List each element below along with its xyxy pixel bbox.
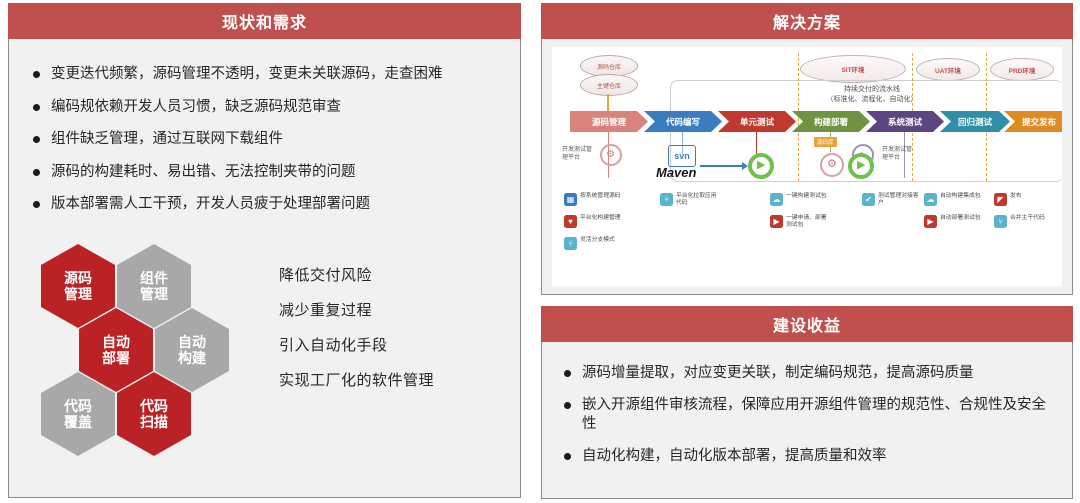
benefit-bullet-list: 源码增量提取，对应变更关联，制定编码规范，提高源码质量 嵌入开源组件审核流程，保… bbox=[542, 342, 1072, 466]
feature-item: ▦ 按系统管理源码 bbox=[564, 193, 621, 206]
panel-status-body: 变更迭代频繁，源码管理不透明，变更未关联源码，走查困难 编码规依赖开发人员习惯，… bbox=[8, 39, 521, 498]
stage-source-management[interactable]: 源码管理 bbox=[570, 111, 648, 132]
env-ellipse-sit: SIT环境 bbox=[800, 55, 906, 83]
hex-label-line2: 部署 bbox=[102, 350, 130, 366]
feature-label: 按系统管理源码 bbox=[580, 193, 621, 200]
hex-label-line2: 扫描 bbox=[140, 414, 168, 430]
feature-item: ◤ 发布 bbox=[994, 193, 1022, 206]
list-item: 版本部署需人工干预，开发人员疲于处理部署问题 bbox=[31, 195, 520, 215]
grid-icon: ▦ bbox=[564, 193, 577, 206]
feature-item: ▶ 一键申请、部署测试包 bbox=[770, 215, 832, 229]
hex-label-line1: 组件 bbox=[140, 270, 168, 286]
list-item: 编码规依赖开发人员习惯，缺乏源码规范审查 bbox=[31, 98, 520, 118]
status-bullet-list: 变更迭代频繁，源码管理不透明，变更未关联源码，走查困难 编码规依赖开发人员习惯，… bbox=[9, 39, 520, 215]
feature-label: 灵活分支模式 bbox=[580, 237, 615, 244]
hex-label-line2: 覆盖 bbox=[64, 414, 92, 430]
feature-item: ✔ 测试管理对接客户 bbox=[862, 193, 924, 207]
branch-icon: ⑂ bbox=[564, 237, 577, 250]
feature-label: 发布 bbox=[1010, 193, 1022, 200]
gear-glyph-left: ⚙ bbox=[606, 150, 615, 160]
play-icon-build: ▶ bbox=[857, 160, 865, 171]
panel-solution-title: 解决方案 bbox=[541, 3, 1073, 39]
hex-label-line1: 代码 bbox=[64, 398, 92, 414]
feature-label: 一键构建测试包 bbox=[786, 193, 827, 200]
panel-benefit-body: 源码增量提取，对应变更关联，制定编码规范，提高源码质量 嵌入开源组件审核流程，保… bbox=[541, 342, 1073, 499]
check-icon: ✔ bbox=[862, 193, 875, 206]
hex-label-line1: 自动 bbox=[178, 334, 206, 350]
feature-label: 一键申请、部署测试包 bbox=[786, 215, 832, 229]
hex-label-line1: 代码 bbox=[140, 398, 168, 414]
list-item: 源码的构建耗时、易出错、无法控制夹带的问题 bbox=[31, 163, 520, 183]
env-ellipse-prd: PRD环境 bbox=[990, 58, 1054, 81]
hex-label-line2: 构建 bbox=[178, 350, 206, 366]
stage-code-writing[interactable]: 代码编写 bbox=[644, 111, 722, 132]
feature-label: 测试管理对接客户 bbox=[878, 193, 924, 207]
panel-solution: 解决方案 源码仓库 主键仓库 SIT环境 UAT环境 PRD环境 持续交付的流水… bbox=[541, 3, 1073, 296]
feature-item: ⑂ 灵活分支模式 bbox=[564, 237, 615, 250]
list-item: 嵌入开源组件审核流程，保障应用开源组件管理的规范性、合规性及安全性 bbox=[562, 396, 1050, 435]
panel-benefit-title: 建设收益 bbox=[541, 306, 1073, 342]
benefit-text: 实现工厂化的软件管理 bbox=[279, 369, 514, 390]
feature-label: 平台化拉取应用代码 bbox=[676, 193, 722, 207]
panel-solution-body: 源码仓库 主键仓库 SIT环境 UAT环境 PRD环境 持续交付的流水线 （标准… bbox=[541, 39, 1073, 295]
repo-ellipse-build: 主键仓库 bbox=[580, 74, 638, 96]
feature-item: ⑂ 平台化拉取应用代码 bbox=[660, 193, 722, 207]
gear-icon-build: ⚙ bbox=[827, 159, 837, 170]
stage-unit-test[interactable]: 单元测试 bbox=[718, 111, 796, 132]
feature-label: 自动构建集成包 bbox=[940, 193, 981, 200]
platform-label-right: 开发测试管理平台 bbox=[882, 147, 912, 162]
hex-label-line1: 自动 bbox=[102, 334, 130, 350]
maven-arrow-stem bbox=[700, 165, 744, 167]
heart-icon: ♥ bbox=[564, 215, 577, 228]
benefit-text: 减少重复过程 bbox=[279, 299, 514, 320]
cloud-icon: ☁ bbox=[770, 193, 783, 206]
hex-label-line1: 源码 bbox=[64, 270, 92, 286]
play-icon: ▶ bbox=[770, 215, 783, 228]
play-icon-unit-test: ▶ bbox=[757, 160, 765, 171]
feature-label: 平台化构建管理 bbox=[580, 215, 621, 222]
feature-label: 合并主干代码 bbox=[1010, 215, 1045, 222]
panel-construction-benefit: 建设收益 源码增量提取，对应变更关联，制定编码规范，提高源码质量 嵌入开源组件审… bbox=[541, 306, 1073, 500]
hex-label-line2: 管理 bbox=[64, 286, 92, 302]
list-item: 组件缺乏管理，通过互联网下载组件 bbox=[31, 130, 520, 150]
maven-logo: Maven bbox=[656, 165, 696, 180]
branch-icon: ⑂ bbox=[994, 215, 1007, 228]
status-benefit-list: 降低交付风险 减少重复过程 引入自动化手段 实现工厂化的软件管理 bbox=[279, 264, 514, 404]
play-icon: ▶ bbox=[924, 215, 937, 228]
stage-build-deploy[interactable]: 构建部署 bbox=[792, 111, 870, 132]
env-ellipse-uat: UAT环境 bbox=[916, 58, 980, 81]
feature-item: ▶ 自动部署测试包 bbox=[924, 215, 981, 228]
stage-system-test[interactable]: 系统测试 bbox=[866, 111, 944, 132]
list-item: 变更迭代频繁，源码管理不透明，变更未关联源码，走查困难 bbox=[31, 65, 520, 85]
rocket-icon: ◤ bbox=[994, 193, 1007, 206]
branch-icon: ⑂ bbox=[660, 193, 673, 206]
build-repo-tag: 源码库 bbox=[814, 137, 837, 147]
feature-label: 自动部署测试包 bbox=[940, 215, 981, 222]
feature-item: ☁ 自动构建集成包 bbox=[924, 193, 981, 206]
cicd-pipeline-diagram: 源码仓库 主键仓库 SIT环境 UAT环境 PRD环境 持续交付的流水线 （标准… bbox=[552, 47, 1062, 286]
list-item: 源码增量提取，对应变更关联，制定编码规范，提高源码质量 bbox=[562, 364, 1050, 384]
hex-label-line2: 管理 bbox=[140, 286, 168, 302]
list-item: 自动化构建，自动化版本部署，提高质量和效率 bbox=[562, 447, 1050, 467]
hexagon-cluster: 源码 管理 组件 管理 自动 部署 自动 构建 代码 覆盖 代码 扫描 bbox=[31, 244, 271, 479]
feature-item: ♥ 平台化构建管理 bbox=[564, 215, 621, 228]
platform-label-left: 开发测试管理平台 bbox=[562, 147, 592, 162]
benefit-text: 降低交付风险 bbox=[279, 264, 514, 285]
feature-item: ☁ 一键构建测试包 bbox=[770, 193, 827, 206]
feature-item: ⑂ 合并主干代码 bbox=[994, 215, 1045, 228]
panel-status-title: 现状和需求 bbox=[8, 3, 521, 39]
panel-current-status: 现状和需求 变更迭代频繁，源码管理不透明，变更未关联源码，走查困难 编码规依赖开… bbox=[8, 3, 521, 500]
svn-icon: svn bbox=[668, 145, 696, 167]
cloud-icon: ☁ bbox=[924, 193, 937, 206]
benefit-text: 引入自动化手段 bbox=[279, 334, 514, 355]
